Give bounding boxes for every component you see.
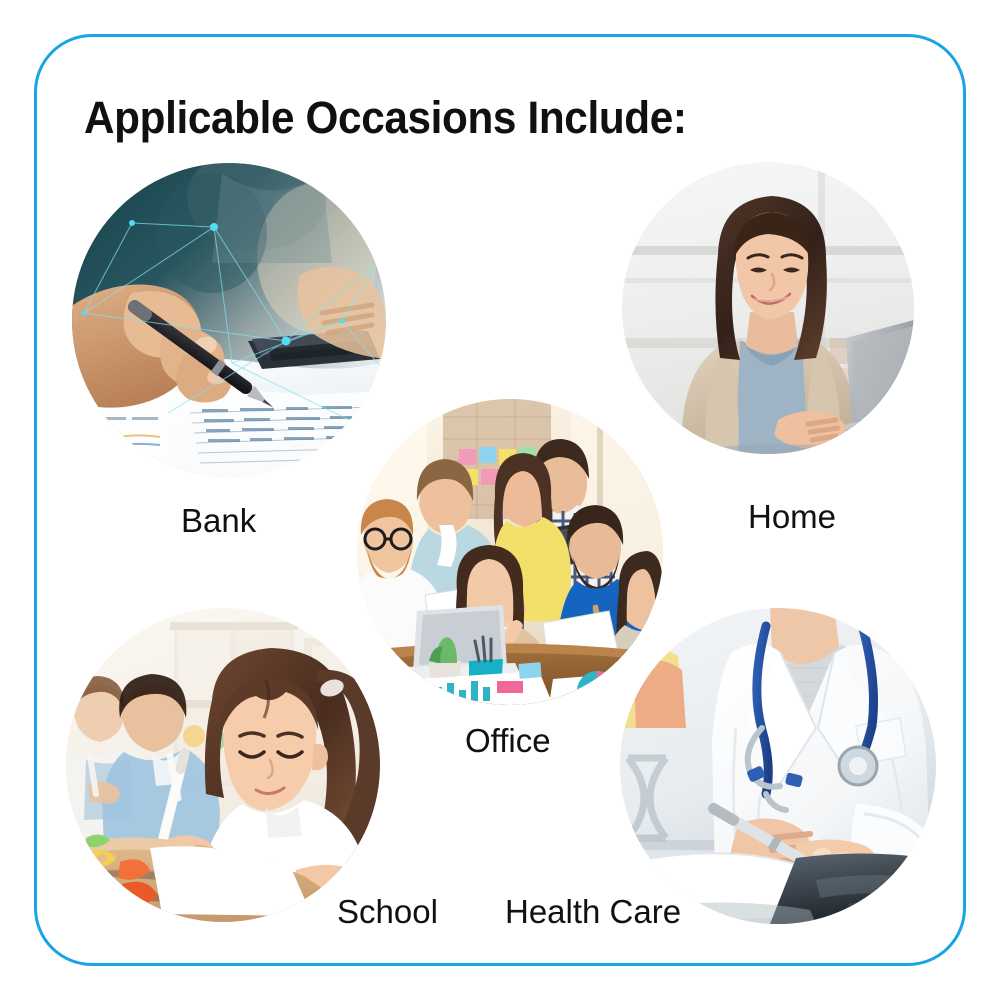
healthcare-photo (620, 608, 936, 924)
occasion-label-bank: Bank (181, 502, 256, 540)
school-photo (66, 608, 380, 922)
occasion-label-school: School (337, 893, 438, 931)
occasion-label-home: Home (748, 498, 836, 536)
occasion-photo-school (66, 608, 380, 922)
occasion-photo-bank (72, 163, 386, 477)
occasion-label-healthcare: Health Care (505, 893, 681, 931)
occasion-photo-home (622, 162, 914, 454)
bank-photo (72, 163, 386, 477)
occasion-photo-healthcare (620, 608, 936, 924)
page-title: Applicable Occasions Include: (84, 92, 687, 144)
occasion-label-office: Office (465, 722, 551, 760)
home-photo (622, 162, 914, 454)
occasion-photo-office (357, 399, 663, 705)
office-photo (357, 399, 663, 705)
poster-canvas: Applicable Occasions Include: (0, 0, 1000, 1000)
